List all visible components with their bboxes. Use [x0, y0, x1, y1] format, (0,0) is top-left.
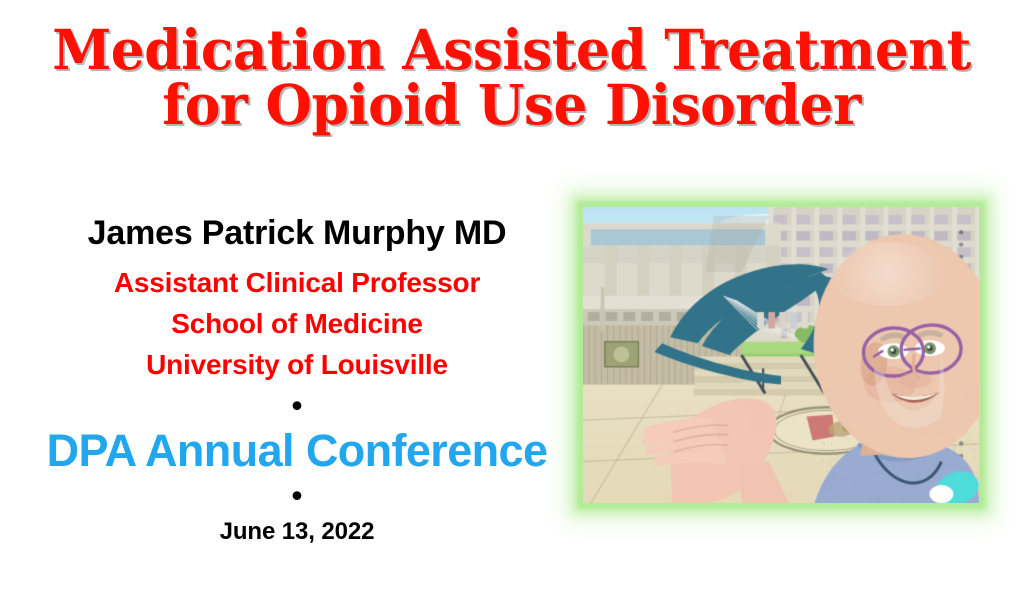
presenter-photo	[583, 207, 979, 503]
title-line-1: Medication Assisted Treatment	[15, 22, 1007, 77]
presentation-slide: Medication Assisted Treatment for Opioid…	[0, 0, 1023, 610]
conference-name: DPA Annual Conference	[14, 425, 580, 477]
presenter-info-block: James Patrick Murphy MD Assistant Clinic…	[14, 212, 580, 547]
bullet-separator-icon-1: •	[14, 391, 580, 425]
affiliation-line-2: School of Medicine	[14, 303, 580, 344]
slide-title: Medication Assisted Treatment for Opioid…	[0, 22, 1023, 132]
affiliation-line-1: Assistant Clinical Professor	[14, 262, 580, 303]
presenter-photo-image	[583, 207, 979, 503]
event-date: June 13, 2022	[14, 517, 580, 547]
title-line-2: for Opioid Use Disorder	[15, 77, 1007, 132]
presenter-name: James Patrick Murphy MD	[14, 212, 580, 254]
bullet-separator-icon-2: •	[14, 481, 580, 515]
affiliation-line-3: University of Louisville	[14, 344, 580, 385]
